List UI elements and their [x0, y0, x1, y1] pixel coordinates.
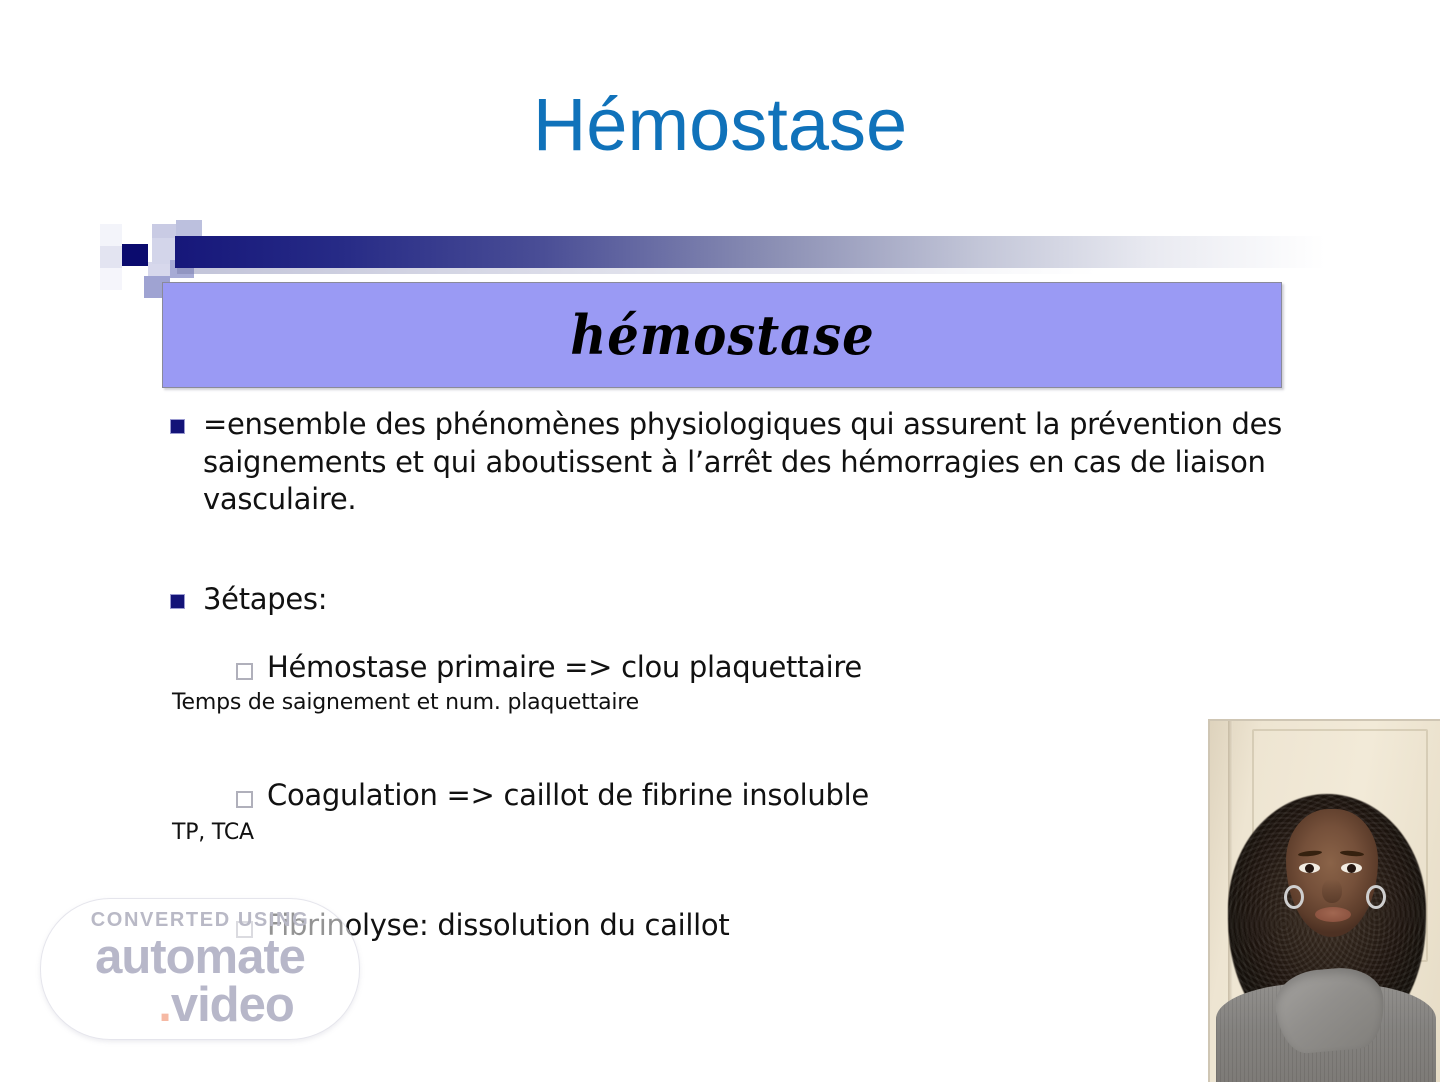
slide-body: =ensemble des phénomènes physiologiques … [170, 406, 1290, 944]
list-item: Coagulation => caillot de fibrine insolu… [236, 777, 1290, 814]
presenter-turtleneck-collar [1273, 964, 1388, 1055]
gradient-rule-shadow [177, 268, 1327, 274]
presenter-earring-left [1284, 885, 1304, 909]
mosaic-square [122, 244, 148, 266]
mosaic-square [100, 268, 122, 290]
list-item-label: Fibrinolyse: dissolution du caillot [267, 907, 729, 944]
spacer [170, 519, 1290, 581]
hollow-square-bullet-icon [236, 663, 253, 680]
decorative-header-bar [100, 224, 1325, 290]
heading-box: hémostase [162, 282, 1282, 388]
list-item-label: Hémostase primaire => clou plaquettaire [267, 649, 862, 686]
mosaic-square [100, 224, 122, 246]
mosaic-square [100, 246, 122, 268]
watermark-brand-video: .video [158, 981, 294, 1029]
list-item: Fibrinolyse: dissolution du caillot [236, 907, 1290, 944]
list-item-label: =ensemble des phénomènes physiologiques … [203, 406, 1290, 519]
list-item-label: 3étapes: [203, 581, 327, 619]
list-item: 3étapes: [170, 581, 1290, 619]
watermark-video-label: video [171, 978, 294, 1032]
list-item: Hémostase primaire => clou plaquettaire [236, 649, 1290, 686]
presenter-nose [1322, 879, 1342, 903]
watermark-dot: . [158, 978, 171, 1032]
spacer [170, 845, 1290, 907]
mosaic-square [122, 224, 144, 246]
note-text: Temps de saignement et num. plaquettaire [172, 690, 1290, 715]
presenter-earring-right [1366, 885, 1386, 909]
mosaic-square [122, 268, 144, 290]
note-text: TP, TCA [172, 820, 1290, 845]
presenter-video-overlay[interactable] [1208, 719, 1440, 1082]
filled-square-bullet-icon [170, 594, 185, 609]
presenter-lips [1315, 907, 1351, 922]
hollow-square-bullet-icon [236, 921, 253, 938]
presenter-pupil-right [1347, 864, 1356, 873]
mosaic-square [152, 224, 176, 238]
page-title: Hémostase [0, 88, 1440, 162]
hollow-square-bullet-icon [236, 791, 253, 808]
gradient-rule [175, 236, 1325, 268]
filled-square-bullet-icon [170, 419, 185, 434]
list-item: =ensemble des phénomènes physiologiques … [170, 406, 1290, 519]
list-item-label: Coagulation => caillot de fibrine insolu… [267, 777, 869, 814]
spacer [170, 619, 1290, 649]
heading-box-label: hémostase [570, 303, 874, 367]
spacer [170, 715, 1290, 777]
presenter-pupil-left [1305, 864, 1314, 873]
